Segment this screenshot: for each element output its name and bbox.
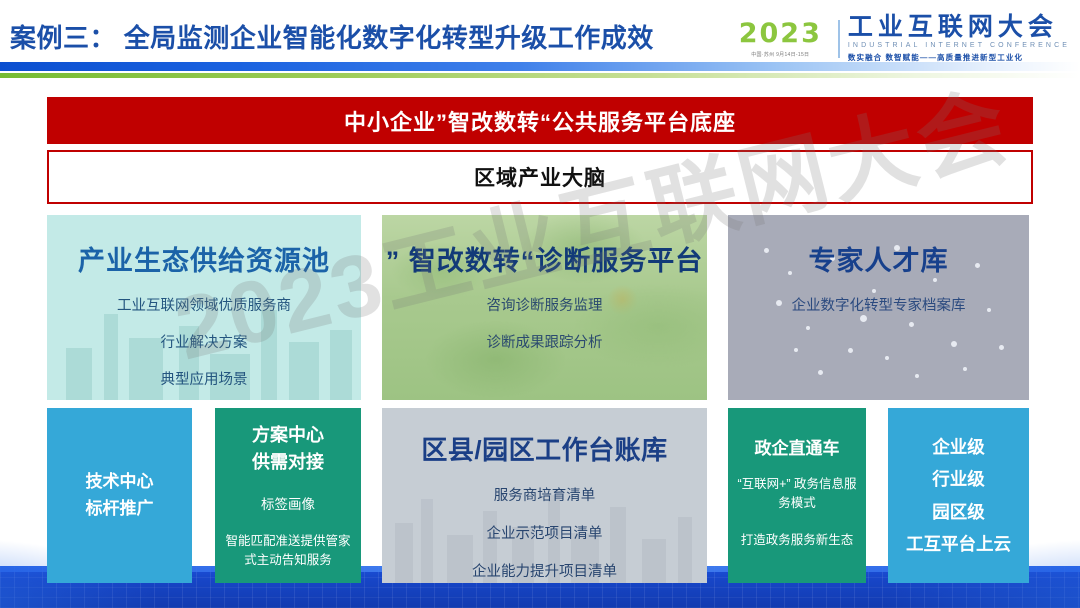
card-ledger-line-1: 服务商培育清单 bbox=[494, 484, 596, 505]
panel-diagnosis-platform-title: ” 智改数转“诊断服务平台 bbox=[386, 239, 704, 278]
conference-logo: 2023 中国·苏州 9月14日-15日 工业互联网大会 INDUSTRIAL … bbox=[739, 14, 1070, 63]
card-plan-center[interactable]: 方案中心 供需对接 标签画像 智能匹配准送提供管家式主动告知服务 bbox=[215, 408, 361, 583]
card-tech-center-title: 技术中心 标杆推广 bbox=[86, 469, 154, 522]
card-levels[interactable]: 企业级 行业级 园区级 工互平台上云 bbox=[888, 408, 1029, 583]
panel-expert-pool-line-1: 企业数字化转型专家档案库 bbox=[792, 294, 966, 315]
card-levels-line-1: 企业级 bbox=[906, 431, 1011, 463]
card-tech-center[interactable]: 技术中心 标杆推广 bbox=[47, 408, 192, 583]
card-ledger-title: 区县/园区工作台账库 bbox=[421, 430, 667, 467]
card-levels-line-4: 工互平台上云 bbox=[906, 528, 1011, 560]
logo-year-block: 2023 中国·苏州 9月14日-15日 bbox=[739, 20, 830, 58]
card-levels-line-2: 行业级 bbox=[906, 463, 1011, 495]
logo-name-block: 工业互联网大会 INDUSTRIAL INTERNET CONFERENCE 数… bbox=[848, 14, 1070, 63]
panel-diagnosis-platform-line-1: 咨询诊断服务监理 bbox=[487, 294, 603, 315]
panel-expert-pool-title: 专家人才库 bbox=[809, 239, 949, 278]
card-tech-center-title-line2: 标杆推广 bbox=[86, 496, 154, 522]
slide-canvas: 案例三： 全局监测企业智能化数字化转型升级工作成效 2023 中国·苏州 9月1… bbox=[0, 0, 1080, 608]
card-direct-channel-note2: 打造政务服务新生态 bbox=[741, 529, 854, 548]
regional-industry-brain-text: 区域产业大脑 bbox=[474, 162, 606, 192]
card-levels-title: 企业级 行业级 园区级 工互平台上云 bbox=[906, 431, 1011, 561]
card-plan-center-title-line1: 方案中心 bbox=[252, 422, 324, 449]
logo-year-subtext: 中国·苏州 9月14日-15日 bbox=[751, 51, 809, 58]
card-tech-center-title-line1: 技术中心 bbox=[86, 469, 154, 495]
panel-expert-pool[interactable]: 专家人才库 企业数字化转型专家档案库 bbox=[728, 215, 1029, 400]
header-green-rule bbox=[0, 73, 1080, 78]
panel-supply-pool-line-1: 工业互联网领域优质服务商 bbox=[117, 294, 291, 315]
card-plan-center-title-line2: 供需对接 bbox=[252, 449, 324, 476]
card-ledger[interactable]: 区县/园区工作台账库 服务商培育清单 企业示范项目清单 企业能力提升项目清单 bbox=[382, 408, 707, 583]
logo-english-name: INDUSTRIAL INTERNET CONFERENCE bbox=[848, 42, 1070, 49]
panel-diagnosis-platform[interactable]: ” 智改数转“诊断服务平台 咨询诊断服务监理 诊断成果跟踪分析 bbox=[382, 215, 707, 400]
header-blue-rule bbox=[0, 62, 1080, 71]
card-levels-line-3: 园区级 bbox=[906, 496, 1011, 528]
card-direct-channel[interactable]: 政企直通车 “互联网+” 政务信息服务模式 打造政务服务新生态 bbox=[728, 408, 866, 583]
logo-slogan: 数实融合 数智赋能——高质量推进新型工业化 bbox=[848, 52, 1070, 63]
regional-industry-brain-box: 区域产业大脑 bbox=[47, 150, 1033, 204]
card-direct-channel-note: “互联网+” 政务信息服务模式 bbox=[734, 475, 860, 513]
platform-base-banner: 中小企业”智改数转“公共服务平台底座 bbox=[47, 97, 1033, 144]
card-plan-center-subtitle: 标签画像 bbox=[261, 493, 315, 513]
card-plan-center-title: 方案中心 供需对接 bbox=[252, 422, 324, 476]
platform-base-banner-text: 中小企业”智改数转“公共服务平台底座 bbox=[344, 105, 736, 137]
panel-diagnosis-platform-line-2: 诊断成果跟踪分析 bbox=[487, 331, 603, 352]
page-title: 案例三： 全局监测企业智能化数字化转型升级工作成效 bbox=[10, 18, 654, 55]
panel-supply-pool[interactable]: 产业生态供给资源池 工业互联网领域优质服务商 行业解决方案 典型应用场景 bbox=[47, 215, 361, 400]
panel-supply-pool-line-2: 行业解决方案 bbox=[161, 331, 248, 352]
logo-chinese-name: 工业互联网大会 bbox=[848, 14, 1070, 40]
logo-divider bbox=[838, 20, 840, 58]
panel-supply-pool-title: 产业生态供给资源池 bbox=[78, 239, 330, 278]
card-ledger-line-2: 企业示范项目清单 bbox=[487, 522, 603, 543]
logo-year-text: 2023 bbox=[739, 20, 822, 47]
card-direct-channel-title: 政企直通车 bbox=[755, 434, 840, 459]
card-plan-center-note: 智能匹配准送提供管家式主动告知服务 bbox=[223, 532, 353, 570]
card-ledger-line-3: 企业能力提升项目清单 bbox=[472, 560, 617, 581]
panel-supply-pool-line-3: 典型应用场景 bbox=[161, 368, 248, 389]
